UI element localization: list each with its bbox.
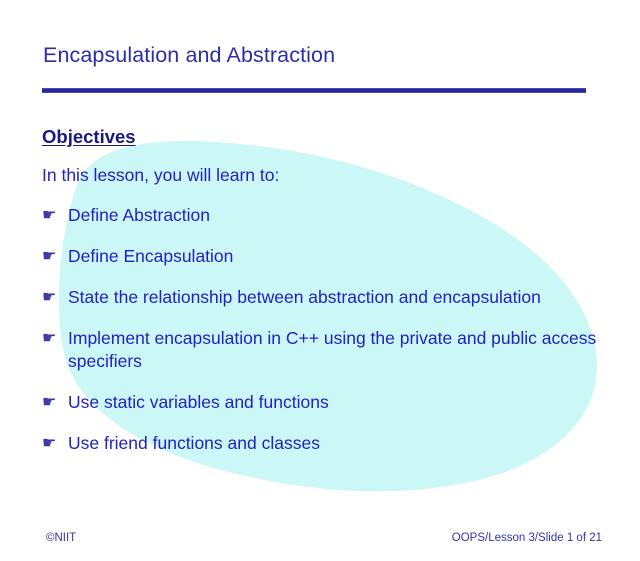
pointing-hand-icon: ☛ [42, 327, 68, 350]
slide: Encapsulation and Abstraction Objectives… [0, 0, 640, 561]
list-item: ☛ Define Abstraction [42, 204, 598, 227]
list-item: ☛ Use static variables and functions [42, 391, 598, 414]
list-item-label: Use static variables and functions [68, 391, 598, 414]
list-item-label: Define Encapsulation [68, 245, 598, 268]
title-divider [42, 88, 586, 93]
list-item: ☛ Use friend functions and classes [42, 432, 598, 455]
list-item: ☛ Define Encapsulation [42, 245, 598, 268]
pointing-hand-icon: ☛ [42, 432, 68, 455]
list-item-label: Implement encapsulation in C++ using the… [68, 327, 598, 373]
pointing-hand-icon: ☛ [42, 286, 68, 309]
footer-copyright: ©NIIT [46, 532, 76, 544]
pointing-hand-icon: ☛ [42, 391, 68, 414]
objectives-heading: Objectives [42, 126, 136, 148]
list-item-label: Define Abstraction [68, 204, 598, 227]
lesson-intro-text: In this lesson, you will learn to: [42, 165, 279, 186]
list-item-label: State the relationship between abstracti… [68, 286, 598, 309]
slide-title: Encapsulation and Abstraction [43, 43, 335, 68]
objectives-list: ☛ Define Abstraction ☛ Define Encapsulat… [42, 204, 598, 473]
pointing-hand-icon: ☛ [42, 204, 68, 227]
pointing-hand-icon: ☛ [42, 245, 68, 268]
footer-slide-reference: OOPS/Lesson 3/Slide 1 of 21 [452, 532, 602, 544]
list-item: ☛ Implement encapsulation in C++ using t… [42, 327, 598, 373]
list-item: ☛ State the relationship between abstrac… [42, 286, 598, 309]
slide-content: Encapsulation and Abstraction Objectives… [0, 0, 640, 561]
list-item-label: Use friend functions and classes [68, 432, 598, 455]
